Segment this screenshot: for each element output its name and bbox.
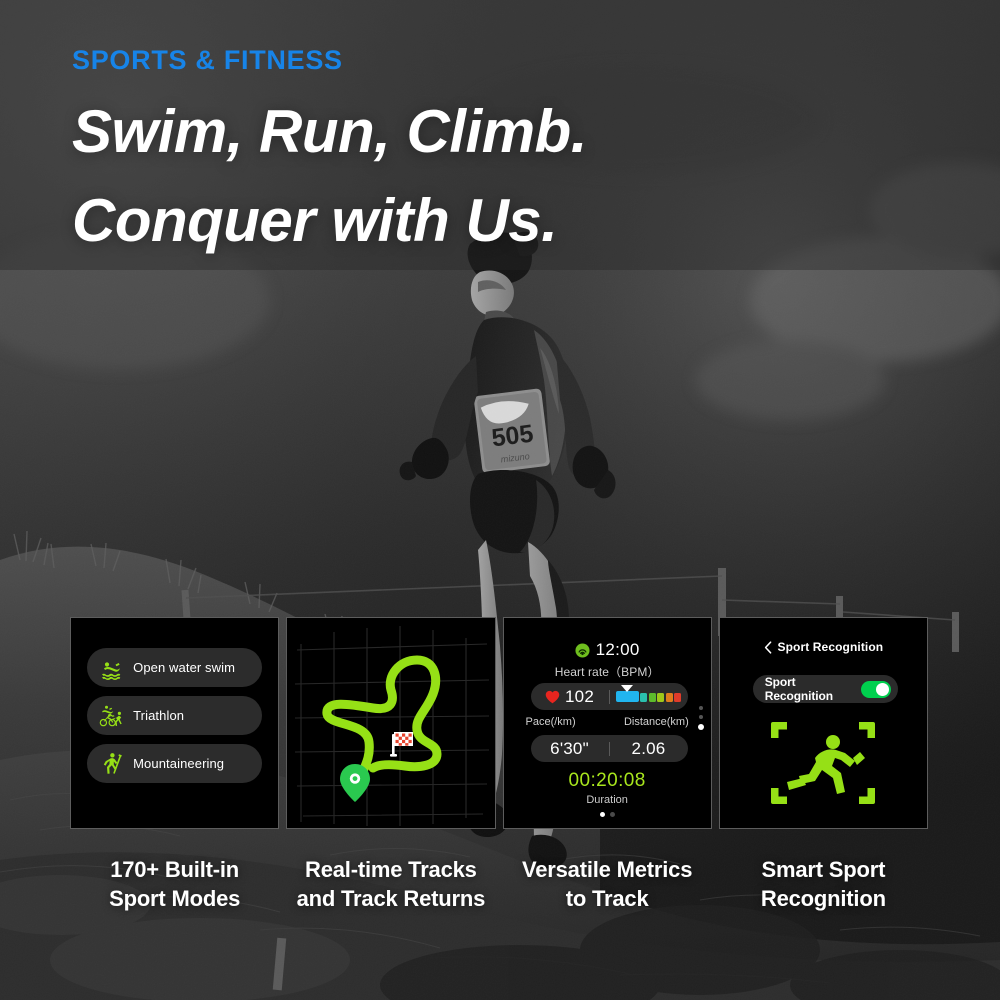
heart-rate-pill[interactable]: 102: [531, 683, 688, 710]
feature-card-row: Open water swim: [70, 617, 928, 829]
card-versatile-metrics[interactable]: 12:00 Heart rate（BPM） 102: [503, 617, 712, 829]
page-indicator[interactable]: [504, 812, 711, 817]
checkered-flag-icon: [390, 732, 413, 757]
pace-value: 6'30": [550, 739, 589, 759]
running-figure: [787, 735, 865, 794]
scroll-dot-active: [698, 724, 704, 730]
page-dot-active: [600, 812, 605, 817]
hero-text-block: SPORTS & FITNESS Swim, Run, Climb. Conqu…: [72, 46, 587, 254]
screen-header[interactable]: Sport Recognition: [720, 640, 927, 654]
heart-rate-value: 102: [565, 687, 594, 707]
promo-banner: 505 mizuno: [0, 0, 1000, 1000]
caption-sport-modes: 170+ Built-in Sport Modes: [70, 856, 279, 913]
eyebrow-label: SPORTS & FITNESS: [72, 46, 587, 76]
track-route: [327, 660, 437, 786]
distance-value-group: 2.06: [610, 735, 688, 762]
page-dot: [610, 812, 615, 817]
caption-line-1: Versatile Metrics: [503, 856, 712, 885]
card-sport-recognition[interactable]: Sport Recognition Sport Recognition: [719, 617, 928, 829]
list-item-label: Triathlon: [133, 708, 184, 723]
open-water-swim-icon: [99, 655, 125, 681]
distance-label: Distance(km): [624, 716, 689, 728]
track-map[interactable]: [287, 618, 495, 829]
caption-line-1: Real-time Tracks: [286, 856, 495, 885]
chevron-left-icon[interactable]: [764, 641, 772, 654]
sport-recognition-setting-row[interactable]: Sport Recognition: [753, 675, 898, 703]
screen-title: Sport Recognition: [778, 640, 884, 654]
clock-time: 12:00: [596, 640, 640, 660]
heart-rate-label: Heart rate（BPM）: [504, 663, 711, 680]
setting-label: Sport Recognition: [765, 675, 861, 703]
gps-signal-icon: [575, 643, 590, 658]
headline-line-1: Swim, Run, Climb.: [72, 98, 587, 165]
list-item[interactable]: Triathlon: [87, 696, 262, 735]
list-item[interactable]: Mountaineering: [87, 744, 262, 783]
watch-status-bar: 12:00: [504, 640, 711, 660]
running-person-in-viewfinder-icon: [767, 718, 879, 808]
list-item-label: Open water swim: [133, 660, 235, 675]
duration-label: Duration: [504, 794, 711, 806]
duration-value: 00:20:08: [504, 770, 711, 792]
caption-sport-recognition: Smart Sport Recognition: [719, 856, 928, 913]
pace-label: Pace(/km): [526, 716, 576, 728]
location-pin-icon: [340, 764, 370, 802]
caption-line-2: Sport Modes: [70, 885, 279, 914]
heart-rate-zone-group: [610, 683, 688, 710]
zone-indicator-caret: [621, 685, 633, 692]
list-item-label: Mountaineering: [133, 756, 224, 771]
heart-icon: [545, 690, 560, 704]
caption-line-2: to Track: [503, 885, 712, 914]
triathlon-icon: [99, 703, 125, 729]
scroll-dot: [699, 715, 703, 719]
sport-recognition-toggle[interactable]: [861, 681, 891, 698]
caption-line-2: and Track Returns: [286, 885, 495, 914]
caption-line-1: 170+ Built-in: [70, 856, 279, 885]
heart-rate-value-group: 102: [531, 683, 609, 710]
caption-line-2: Recognition: [719, 885, 928, 914]
sport-mode-list: Open water swim: [71, 648, 278, 783]
headline-line-2: Conquer with Us.: [72, 187, 587, 254]
heart-rate-zone-bar: [616, 691, 682, 702]
caption-versatile-metrics: Versatile Metrics to Track: [503, 856, 712, 913]
card-real-time-track[interactable]: [286, 617, 495, 829]
distance-value: 2.06: [632, 739, 666, 759]
list-item[interactable]: Open water swim: [87, 648, 262, 687]
toggle-knob: [876, 683, 889, 696]
scroll-dot: [699, 706, 703, 710]
pace-distance-labels: Pace(/km) Distance(km): [526, 716, 689, 728]
pace-distance-pill[interactable]: 6'30" 2.06: [531, 735, 688, 762]
mountaineering-icon: [99, 751, 125, 777]
caption-row: 170+ Built-in Sport Modes Real-time Trac…: [70, 856, 928, 913]
card-sport-modes[interactable]: Open water swim: [70, 617, 279, 829]
pace-value-group: 6'30": [531, 735, 609, 762]
caption-line-1: Smart Sport: [719, 856, 928, 885]
map-grid-lines: [295, 626, 489, 826]
scroll-indicator[interactable]: [698, 706, 704, 730]
caption-real-time-track: Real-time Tracks and Track Returns: [286, 856, 495, 913]
recognition-illustration: [720, 718, 927, 808]
